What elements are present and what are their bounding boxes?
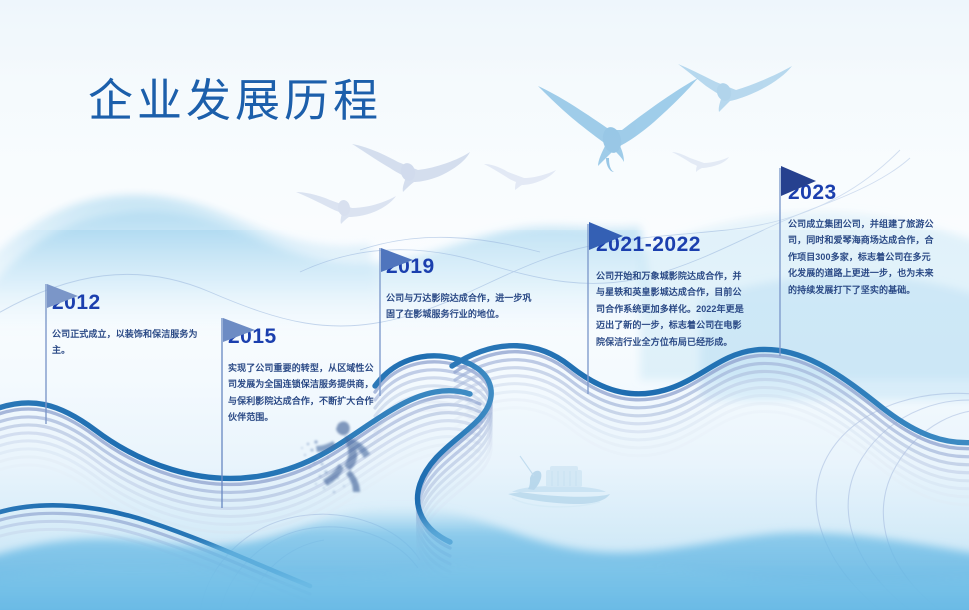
flag-icon-2021-2022 (580, 214, 640, 394)
ribbon-bottom-left (0, 505, 310, 610)
fishing-boat (508, 456, 610, 507)
bird-seagull-tiny-upper (672, 152, 729, 172)
runner-silhouette (301, 421, 370, 493)
mountain-wash-lower (0, 507, 969, 610)
flag-icon-2023 (772, 160, 832, 356)
milestone-2019[interactable]: 2019 公司与万达影院达成合作，进一步巩固了在影城服务行业的地位。 (386, 256, 538, 323)
flag-icon-2015 (214, 308, 274, 508)
milestone-2023[interactable]: 2023 公司成立集团公司，并组建了旅游公司，同时和爱琴海商场达成合作，合作项目… (788, 182, 938, 298)
milestone-2015[interactable]: 2015 实现了公司重要的转型，从区域性公司发展为全国连锁保洁服务提供商，与保利… (228, 326, 380, 426)
flag-icon-2019 (372, 238, 432, 396)
milestone-2012[interactable]: 2012 公司正式成立，以装饰和保洁服务为主。 (52, 292, 200, 359)
ribbon-stripes (0, 352, 969, 596)
bird-seagull-small-left (296, 192, 396, 224)
page-title: 企业发展历程 (88, 64, 382, 129)
bird-seagull-far-left (484, 164, 556, 190)
bird-seagull-mid-left (352, 144, 470, 192)
bird-seagull-upper-right (678, 64, 792, 112)
timeline-poster: 企业发展历程 2012 公司正式成立，以装饰和保洁服务为主。 2015 实现了公… (0, 0, 969, 610)
timeline-ribbon (0, 346, 969, 610)
flag-icon-2012 (38, 274, 98, 424)
ribbon-edge (0, 346, 969, 542)
milestone-2021-2022[interactable]: 2021-2022 公司开始和万象城影院达成合作，并与星轶和英皇影城达成合作，目… (596, 234, 744, 350)
bird-seagull-large (538, 78, 698, 172)
background-ring-arcs (200, 393, 969, 610)
